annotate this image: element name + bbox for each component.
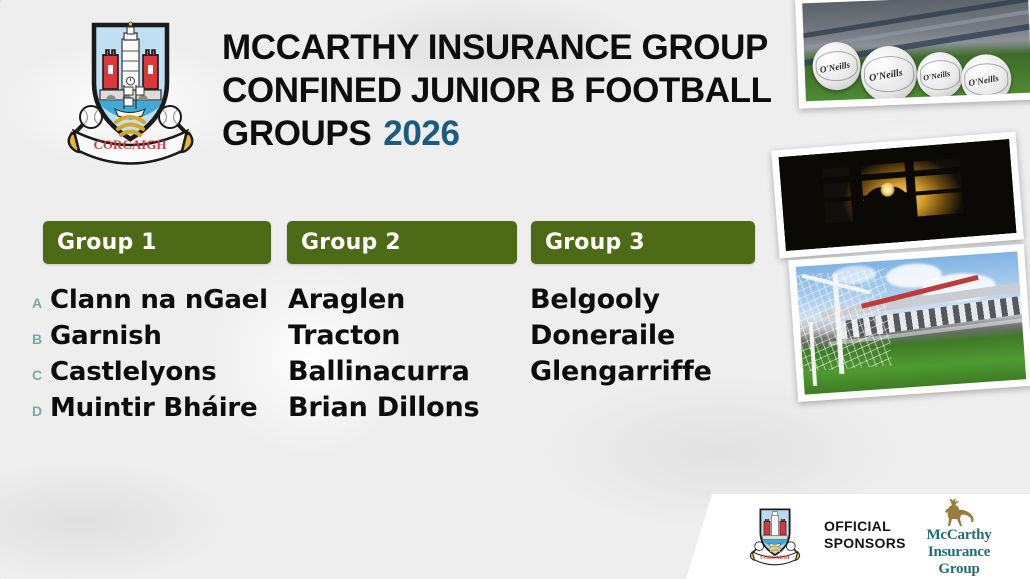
team-name: Doneraile bbox=[530, 318, 675, 354]
sunset-silhouette-photo bbox=[771, 132, 1024, 259]
mig-line-2: Insurance bbox=[905, 544, 1013, 561]
mig-line-1: McCarthy bbox=[905, 527, 1013, 544]
official-sponsors-block: CORCAIGH OFFICIAL SPONSORS bbox=[746, 504, 906, 566]
stag-icon bbox=[905, 499, 1013, 527]
group-header-1: Group 1 bbox=[43, 221, 271, 264]
team-name: Araglen bbox=[288, 282, 405, 318]
group-header-3-label: Group 3 bbox=[545, 230, 645, 255]
list-item: Glengarriffe bbox=[530, 354, 780, 390]
title-line-3: GROUPS 2026 bbox=[222, 112, 802, 155]
group-2-team-list: Araglen Tracton Ballinacurra Brian Dillo… bbox=[288, 282, 538, 426]
group-header-1-label: Group 1 bbox=[57, 230, 157, 255]
group-header-3: Group 3 bbox=[531, 221, 755, 264]
cork-gaa-crest-small: CORCAIGH bbox=[746, 504, 804, 566]
team-name: Clann na nGael bbox=[50, 282, 268, 318]
mig-line-3: Group bbox=[905, 561, 1013, 578]
mccarthy-insurance-group-logo: McCarthy Insurance Group bbox=[905, 499, 1013, 578]
team-name: Garnish bbox=[50, 318, 162, 354]
sponsor-panel: CORCAIGH OFFICIAL SPONSORS McCarthy I bbox=[686, 494, 1030, 579]
group-1-team-list: A Clann na nGael B Garnish C Castlelyons… bbox=[32, 282, 282, 426]
team-letter: C bbox=[32, 357, 50, 393]
team-letter: A bbox=[32, 285, 50, 321]
list-item: Tracton bbox=[288, 318, 538, 354]
team-name: Ballinacurra bbox=[288, 354, 470, 390]
page-title: MCCARTHY INSURANCE GROUP CONFINED JUNIOR… bbox=[222, 26, 802, 155]
list-item: C Castlelyons bbox=[32, 354, 282, 390]
list-item: B Garnish bbox=[32, 318, 282, 354]
stadium-goalposts-photo bbox=[788, 244, 1030, 402]
list-item: Belgooly bbox=[530, 282, 780, 318]
title-line-1: MCCARTHY INSURANCE GROUP bbox=[222, 26, 802, 69]
official-sponsors-line-1: OFFICIAL bbox=[824, 518, 906, 535]
poster-canvas: CORCAIGH MCCARTHY INSURANCE GROUP CONFIN… bbox=[0, 0, 1030, 579]
list-item: Brian Dillons bbox=[288, 390, 538, 426]
title-line-2: CONFINED JUNIOR B FOOTBALL bbox=[222, 69, 802, 112]
team-letter: B bbox=[32, 321, 50, 357]
gaelic-footballs-photo: O'Neills O'Neills O'Neills O'Neills bbox=[795, 0, 1030, 109]
team-name: Muintir Bháire bbox=[50, 390, 257, 426]
list-item: Ballinacurra bbox=[288, 354, 538, 390]
group-3-team-list: Belgooly Doneraile Glengarriffe bbox=[530, 282, 780, 390]
crest-motto: CORCAIGH bbox=[94, 137, 167, 152]
official-sponsors-line-2: SPONSORS bbox=[824, 535, 906, 552]
list-item: Araglen bbox=[288, 282, 538, 318]
team-name: Belgooly bbox=[530, 282, 660, 318]
svg-text:CORCAIGH: CORCAIGH bbox=[760, 555, 789, 561]
list-item: D Muintir Bháire bbox=[32, 390, 282, 426]
team-name: Tracton bbox=[288, 318, 400, 354]
cork-gaa-crest: CORCAIGH bbox=[58, 13, 203, 165]
group-header-2-label: Group 2 bbox=[301, 230, 401, 255]
team-letter: D bbox=[32, 393, 50, 429]
title-year: 2026 bbox=[383, 112, 459, 155]
title-groups-word: GROUPS bbox=[222, 112, 371, 155]
official-sponsors-label: OFFICIAL SPONSORS bbox=[824, 518, 906, 552]
list-item: A Clann na nGael bbox=[32, 282, 282, 318]
group-header-2: Group 2 bbox=[287, 221, 517, 264]
team-name: Castlelyons bbox=[50, 354, 217, 390]
list-item: Doneraile bbox=[530, 318, 780, 354]
team-name: Glengarriffe bbox=[530, 354, 712, 390]
team-name: Brian Dillons bbox=[288, 390, 479, 426]
